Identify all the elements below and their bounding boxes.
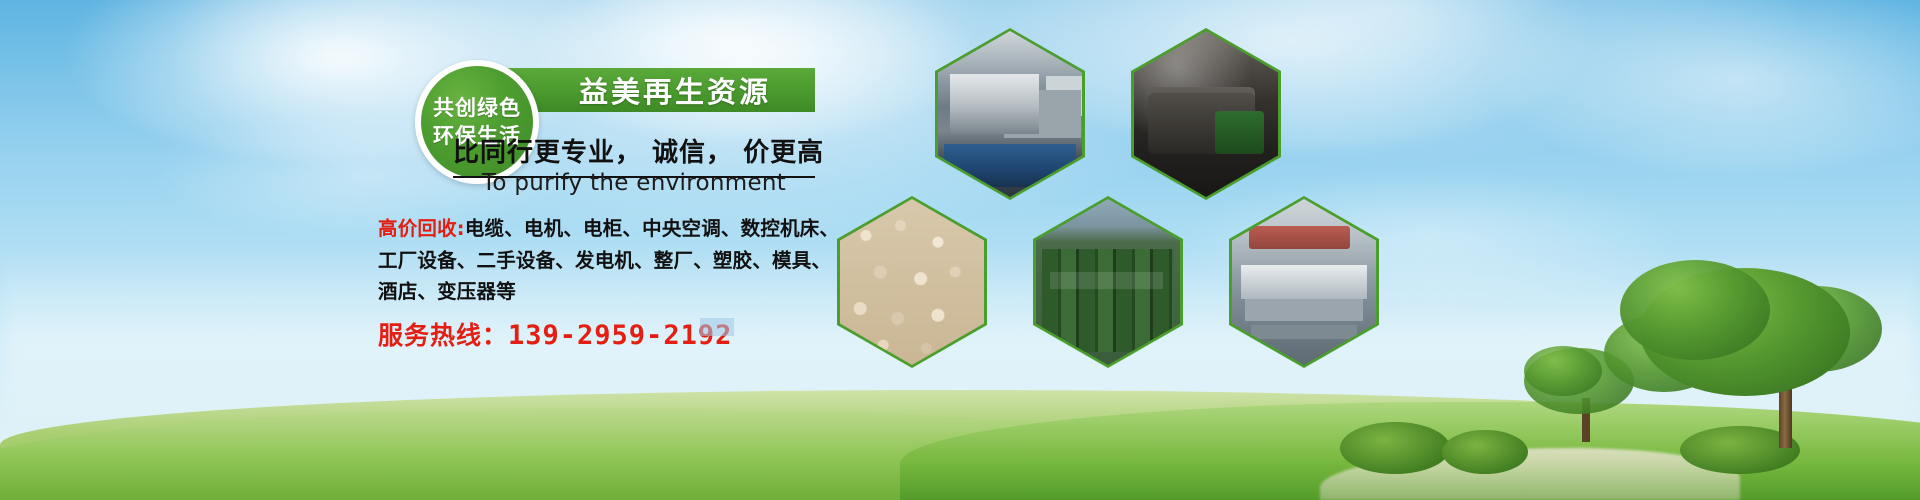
hex-photo-factory-machinery: [935, 28, 1085, 200]
badge-line-1: 共创绿色: [433, 96, 521, 120]
recycle-line-2: 工厂设备、二手设备、发电机、整厂、塑胶、模具、: [378, 245, 848, 277]
subtitle-english: To purify the environment: [453, 170, 815, 196]
shrub-icon: [1340, 422, 1450, 474]
company-name: 益美再生资源: [579, 69, 771, 111]
recycle-items-block: 高价回收:电缆、电机、电柜、中央空调、数控机床、 工厂设备、二手设备、发电机、整…: [378, 213, 848, 308]
cloud-icon: [1480, 0, 1920, 170]
recycle-items-1: 电缆、电机、电柜、中央空调、数控机床、: [465, 217, 839, 240]
hotline-label: 服务热线：: [378, 321, 508, 350]
hotline-highlight: [700, 318, 734, 336]
small-tree-canopy: [1524, 346, 1602, 396]
green-crates-image: [1036, 199, 1180, 365]
diesel-engine-image: [1134, 31, 1278, 197]
recycling-company-banner: 益美再生资源 共创绿色 环保生活 比同行更专业， 诚信， 价更高 To puri…: [0, 0, 1920, 500]
recycle-line-3: 酒店、变压器等: [378, 276, 848, 308]
hexagon-photo-cluster: [835, 28, 1285, 378]
tree-canopy: [1620, 260, 1770, 360]
hotline[interactable]: 服务热线：139-2959-2192: [378, 316, 732, 352]
hex-photo-diesel-engine: [1131, 28, 1281, 200]
hotline-number[interactable]: 139-2959-2192: [508, 320, 732, 351]
recycle-line-1: 高价回收:电缆、电机、电柜、中央空调、数控机床、: [378, 213, 848, 245]
hex-photo-green-crates: [1033, 196, 1183, 368]
shrub-icon: [1442, 430, 1528, 474]
factory-machinery-image: [938, 31, 1082, 197]
recycle-label: 高价回收:: [378, 217, 465, 240]
plastic-pellets-image: [840, 199, 984, 365]
hex-photo-plastic-pellets: [837, 196, 987, 368]
